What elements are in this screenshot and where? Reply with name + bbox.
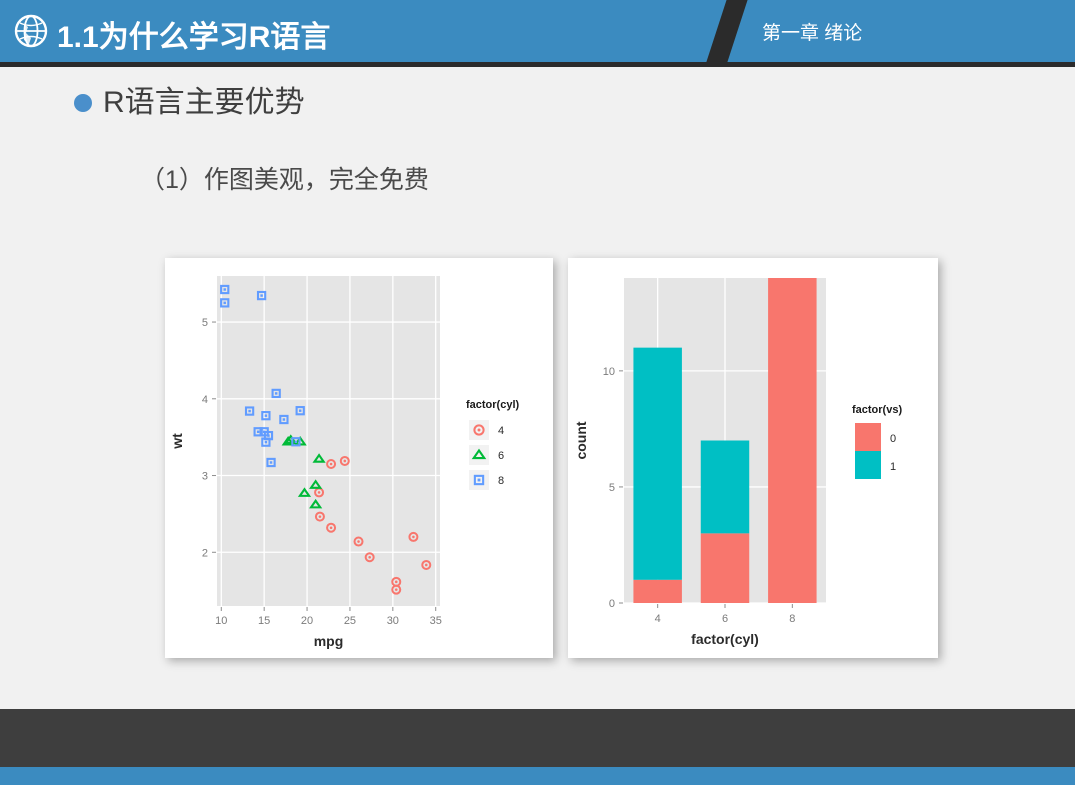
svg-text:4: 4 [655,613,661,625]
svg-text:8: 8 [789,613,795,625]
svg-text:30: 30 [387,615,399,627]
svg-text:wt: wt [169,433,185,450]
svg-text:1: 1 [890,461,896,473]
globe-icon [14,14,48,48]
scatter-plot-svg: 1015202530352345mpgwtfactor(cyl)468 [165,258,553,658]
svg-text:2: 2 [202,547,208,559]
svg-text:10: 10 [603,366,615,378]
bar-segment [633,580,681,603]
svg-text:count: count [573,421,589,459]
bar-segment [633,348,681,580]
bar-chart-svg: 0510468factor(cyl)countfactor(vs)01 [568,258,938,658]
bullet-dot-icon [74,94,92,112]
header-diagonal-divider [704,0,748,62]
svg-text:35: 35 [430,615,442,627]
svg-text:10: 10 [215,615,227,627]
svg-text:factor(cyl): factor(cyl) [691,631,759,647]
svg-text:25: 25 [344,615,356,627]
bar-chart-panel: 0510468factor(cyl)countfactor(vs)01 [568,258,938,658]
footer-blue-band [0,767,1075,785]
svg-text:4: 4 [202,394,208,406]
svg-text:4: 4 [498,425,504,437]
svg-text:factor(vs): factor(vs) [852,404,902,416]
svg-text:factor(cyl): factor(cyl) [466,399,520,411]
svg-text:0: 0 [890,433,896,445]
sub-item-label: （1）作图美观，完全免费 [140,160,429,196]
scatter-plot-panel: 1015202530352345mpgwtfactor(cyl)468 [165,258,553,658]
svg-text:6: 6 [722,613,728,625]
bar-segment [701,441,749,534]
svg-text:8: 8 [498,475,504,487]
footer-dark-band [0,709,1075,767]
svg-text:6: 6 [498,450,504,462]
svg-text:5: 5 [609,482,615,494]
svg-text:3: 3 [202,471,208,483]
bullet-heading-row: R语言主要优势 [74,86,305,119]
svg-text:0: 0 [609,598,615,610]
bar-segment [701,533,749,603]
svg-text:mpg: mpg [314,633,344,649]
bar-segment [768,278,816,603]
chapter-label: 第一章 绪论 [762,18,862,45]
slide-header-bar: 1.1为什么学习R语言 第一章 绪论 [0,0,1075,62]
bullet-heading-label: R语言主要优势 [103,86,305,119]
svg-text:20: 20 [301,615,313,627]
svg-text:15: 15 [258,615,270,627]
svg-text:5: 5 [202,317,208,329]
header-underline [0,62,1075,67]
page-title: 1.1为什么学习R语言 [57,12,330,56]
